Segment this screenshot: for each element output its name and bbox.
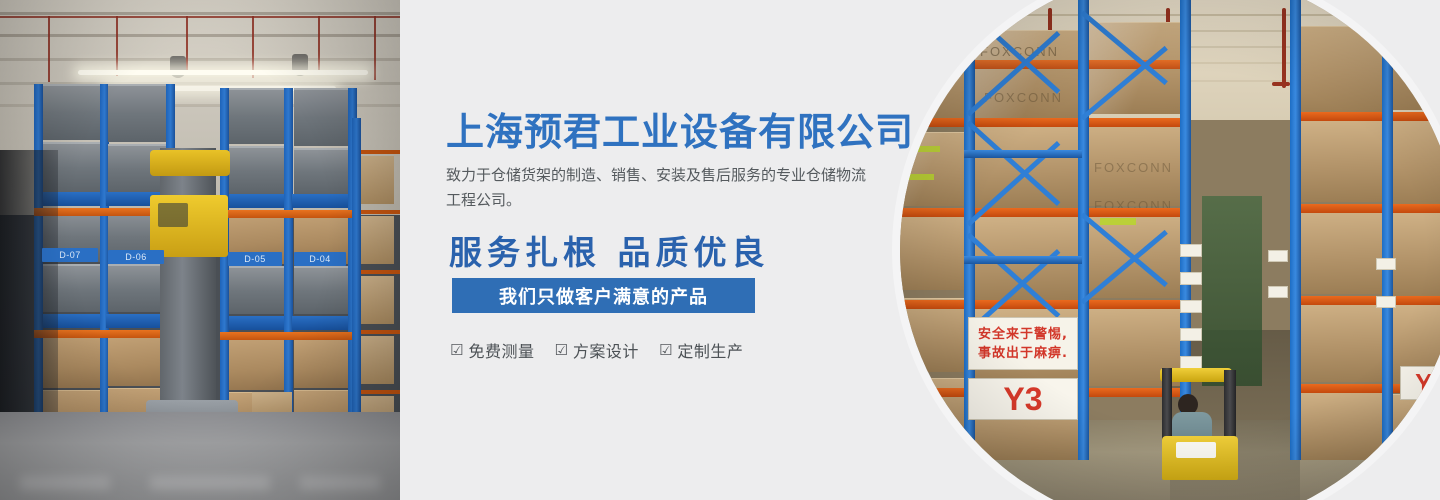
checkbox-check-icon: ☑ xyxy=(554,343,567,358)
feature-item: ☑ 定制生产 xyxy=(659,338,743,362)
right-photo-wrap: FOXCONN FOXCONN FOXCONN FOXCONN xyxy=(880,0,1440,500)
feature-label: 定制生产 xyxy=(677,338,743,362)
feature-item: ☑ 免费测量 xyxy=(450,338,534,362)
page-title: 上海预君工业设备有限公司 xyxy=(446,101,914,156)
company-subtitle: 致力于仓储货架的制造、销售、安装及售后服务的专业仓储物流工程公司。 xyxy=(446,163,866,213)
checkbox-check-icon: ☑ xyxy=(450,343,463,358)
feature-label: 免费测量 xyxy=(468,338,534,362)
slogan: 服务扎根 品质优良 xyxy=(449,226,770,274)
right-warehouse-photo: FOXCONN FOXCONN FOXCONN FOXCONN xyxy=(900,0,1440,500)
feature-label: 方案设计 xyxy=(573,338,639,362)
feature-item: ☑ 方案设计 xyxy=(554,338,638,362)
left-warehouse-photo: D-07 D-06 D-05 D-04 xyxy=(0,0,400,500)
checkbox-check-icon: ☑ xyxy=(659,343,672,358)
cta-button[interactable]: 我们只做客户满意的产品 xyxy=(452,278,755,313)
hero-banner: D-07 D-06 D-05 D-04 上海预君工业设备有限公司 致力于仓储货架… xyxy=(0,0,1440,500)
feature-list: ☑ 免费测量 ☑ 方案设计 ☑ 定制生产 xyxy=(450,338,743,362)
